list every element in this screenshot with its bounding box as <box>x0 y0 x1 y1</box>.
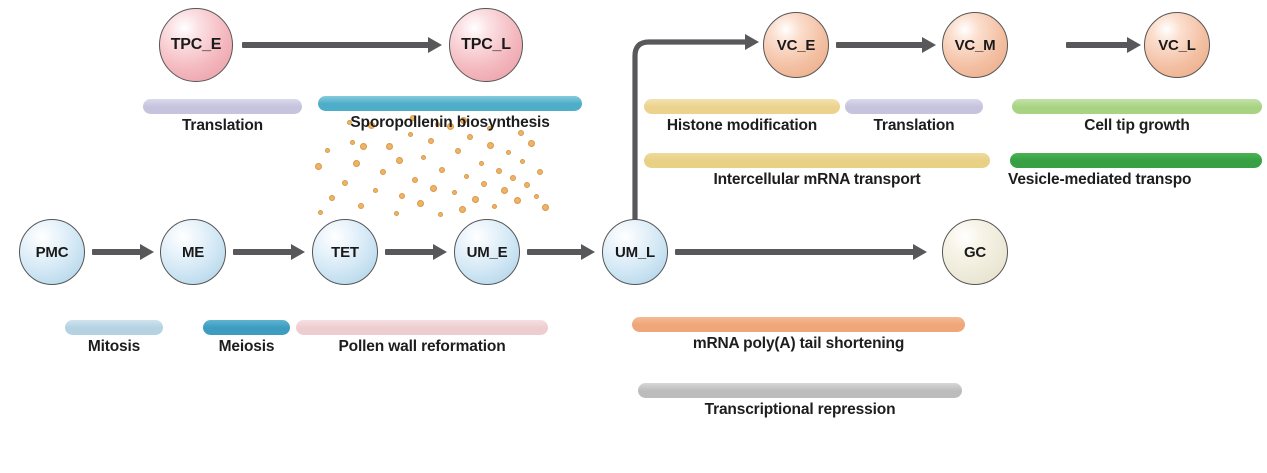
pollen-grain-dot <box>459 206 466 213</box>
process-bar-label: Mitosis <box>65 338 163 356</box>
pollen-grain-dot <box>408 132 413 137</box>
arrow-head <box>1127 37 1141 53</box>
pollen-grain-dot <box>472 196 479 203</box>
process-bar-group-histone-modification: Histone modification <box>644 99 840 135</box>
stage-node-vc-e[interactable]: VC_E <box>763 12 829 78</box>
pollen-grain-dot <box>318 210 323 215</box>
process-bar-mrna-polya-tail-shortening[interactable] <box>632 317 965 332</box>
pollen-grain-dot <box>506 150 511 155</box>
process-bar-mitosis[interactable] <box>65 320 163 335</box>
process-bar-group-meiosis: Meiosis <box>203 320 290 356</box>
arrow-head <box>581 244 595 260</box>
stage-node-um-l[interactable]: UM_L <box>602 219 668 285</box>
pollen-grain-dot <box>380 169 386 175</box>
pollen-grain-dot <box>520 159 525 164</box>
pollen-grain-dot <box>496 168 502 174</box>
process-bar-label: Intercellular mRNA transport <box>644 171 990 189</box>
stage-node-label: UM_L <box>615 245 655 260</box>
stage-node-label: TPC_E <box>171 37 222 53</box>
pollen-grain-dot <box>537 169 543 175</box>
stage-node-me[interactable]: ME <box>160 219 226 285</box>
process-bar-transcriptional-repression[interactable] <box>638 383 962 398</box>
process-bar-translation-upper-right[interactable] <box>845 99 983 114</box>
pollen-grain-dot <box>417 200 424 207</box>
process-bar-sporopollenin-biosynthesis[interactable] <box>318 96 582 111</box>
arrow-shaft <box>675 249 915 254</box>
stage-node-tpc-e[interactable]: TPC_E <box>159 8 233 82</box>
pollen-grain-dot <box>492 204 497 209</box>
pollen-grain-dot <box>464 174 469 179</box>
process-bar-translation-upper-left[interactable] <box>143 99 302 114</box>
arrow-head <box>291 244 305 260</box>
process-bar-group-vesicle-mediated-transport: Vesicle-mediated transpo <box>1008 153 1264 189</box>
pollen-grain-dot <box>315 163 322 170</box>
pollen-grain-dot <box>534 194 539 199</box>
pollen-grain-dot <box>373 188 378 193</box>
stage-node-gc[interactable]: GC <box>942 219 1008 285</box>
pollen-grain-dot <box>360 143 367 150</box>
pollen-grain-dot <box>386 143 393 150</box>
pollen-grain-dot <box>479 161 484 166</box>
process-bar-group-cell-tip-growth: Cell tip growth <box>1012 99 1262 135</box>
pollen-grain-dot <box>350 140 355 145</box>
pollen-grain-dot <box>487 142 494 149</box>
process-bar-label: Histone modification <box>644 117 840 135</box>
pollen-grain-dot <box>542 204 549 211</box>
branch-arrow-head <box>745 34 759 50</box>
process-bar-label: Vesicle-mediated transpo <box>1008 171 1264 189</box>
pollen-grain-dot <box>514 197 521 204</box>
pollen-grain-dot <box>325 148 330 153</box>
process-bar-label: Cell tip growth <box>1012 117 1262 135</box>
process-bar-label: Meiosis <box>203 338 290 356</box>
pollen-grain-dot <box>428 138 434 144</box>
process-bar-group-intercellular-mrna-transport: Intercellular mRNA transport <box>644 153 990 189</box>
stage-node-label: TET <box>331 245 359 260</box>
stage-node-tet[interactable]: TET <box>312 219 378 285</box>
process-bar-vesicle-mediated-transport[interactable] <box>1010 153 1262 168</box>
process-bar-group-sporopollenin-biosynthesis: Sporopollenin biosynthesis <box>316 96 584 132</box>
pollen-grain-dot <box>329 195 335 201</box>
stage-node-vc-l[interactable]: VC_L <box>1144 12 1210 78</box>
arrow-head <box>913 244 927 260</box>
process-bar-intercellular-mrna-transport[interactable] <box>644 153 990 168</box>
stage-node-vc-m[interactable]: VC_M <box>942 12 1008 78</box>
pathway-diagram: TPC_ETPC_LVC_EVC_MVC_LPMCMETETUM_EUM_LGC… <box>0 0 1267 473</box>
process-bar-label: Pollen wall reformation <box>296 338 548 356</box>
stage-node-label: UM_E <box>467 245 508 260</box>
pollen-grain-dot <box>481 181 487 187</box>
process-bar-label: Translation <box>143 117 302 135</box>
pollen-grain-dot <box>394 211 399 216</box>
process-bar-group-translation-upper-right: Translation <box>845 99 983 135</box>
arrow-shaft <box>527 249 583 254</box>
pollen-grain-dot <box>510 175 516 181</box>
pollen-grain-dot <box>430 185 437 192</box>
stage-node-tpc-l[interactable]: TPC_L <box>449 8 523 82</box>
pollen-grain-dot <box>412 177 418 183</box>
pollen-grain-dot <box>396 157 403 164</box>
pollen-grain-dot <box>455 148 461 154</box>
pollen-grain-dot <box>342 180 348 186</box>
arrow-shaft <box>385 249 435 254</box>
process-bar-group-mrna-polya-tail-shortening: mRNA poly(A) tail shortening <box>632 317 965 353</box>
arrow-head <box>922 37 936 53</box>
process-bar-label: Sporopollenin biosynthesis <box>316 114 584 132</box>
arrow-head <box>428 37 442 53</box>
process-bar-meiosis[interactable] <box>203 320 290 335</box>
pollen-grain-dot <box>524 182 530 188</box>
process-bar-pollen-wall-reformation[interactable] <box>296 320 548 335</box>
process-bar-group-translation-upper-left: Translation <box>143 99 302 135</box>
process-bar-group-mitosis: Mitosis <box>65 320 163 356</box>
arrow-shaft <box>1066 42 1129 47</box>
process-bar-group-transcriptional-repression: Transcriptional repression <box>638 383 962 419</box>
process-bar-group-pollen-wall-reformation: Pollen wall reformation <box>296 320 548 356</box>
stage-node-label: VC_M <box>955 38 996 53</box>
stage-node-label: ME <box>182 245 204 260</box>
stage-node-um-e[interactable]: UM_E <box>454 219 520 285</box>
stage-node-label: VC_L <box>1158 38 1196 53</box>
pollen-grain-dot <box>528 140 535 147</box>
process-bar-histone-modification[interactable] <box>644 99 840 114</box>
stage-node-label: PMC <box>36 245 69 260</box>
pollen-grain-dot <box>452 190 457 195</box>
pollen-grain-dot <box>353 160 360 167</box>
pollen-grain-dot <box>439 167 445 173</box>
process-bar-label: Transcriptional repression <box>638 401 962 419</box>
stage-node-pmc[interactable]: PMC <box>19 219 85 285</box>
process-bar-label: mRNA poly(A) tail shortening <box>632 335 965 353</box>
pollen-grain-dot <box>421 155 426 160</box>
stage-node-label: GC <box>964 245 986 260</box>
pollen-grain-dot <box>467 134 473 140</box>
pollen-grain-dot <box>358 203 364 209</box>
stage-node-label: TPC_L <box>461 37 511 53</box>
arrow-head <box>433 244 447 260</box>
pollen-grain-dot <box>399 193 405 199</box>
arrow-shaft <box>836 42 924 47</box>
arrow-shaft <box>242 42 430 47</box>
arrow-shaft <box>233 249 293 254</box>
arrow-shaft <box>92 249 142 254</box>
stage-node-label: VC_E <box>777 38 815 53</box>
process-bar-label: Translation <box>845 117 983 135</box>
pollen-grain-dot <box>501 187 508 194</box>
arrow-head <box>140 244 154 260</box>
pollen-grain-dot <box>438 212 443 217</box>
process-bar-cell-tip-growth[interactable] <box>1012 99 1262 114</box>
